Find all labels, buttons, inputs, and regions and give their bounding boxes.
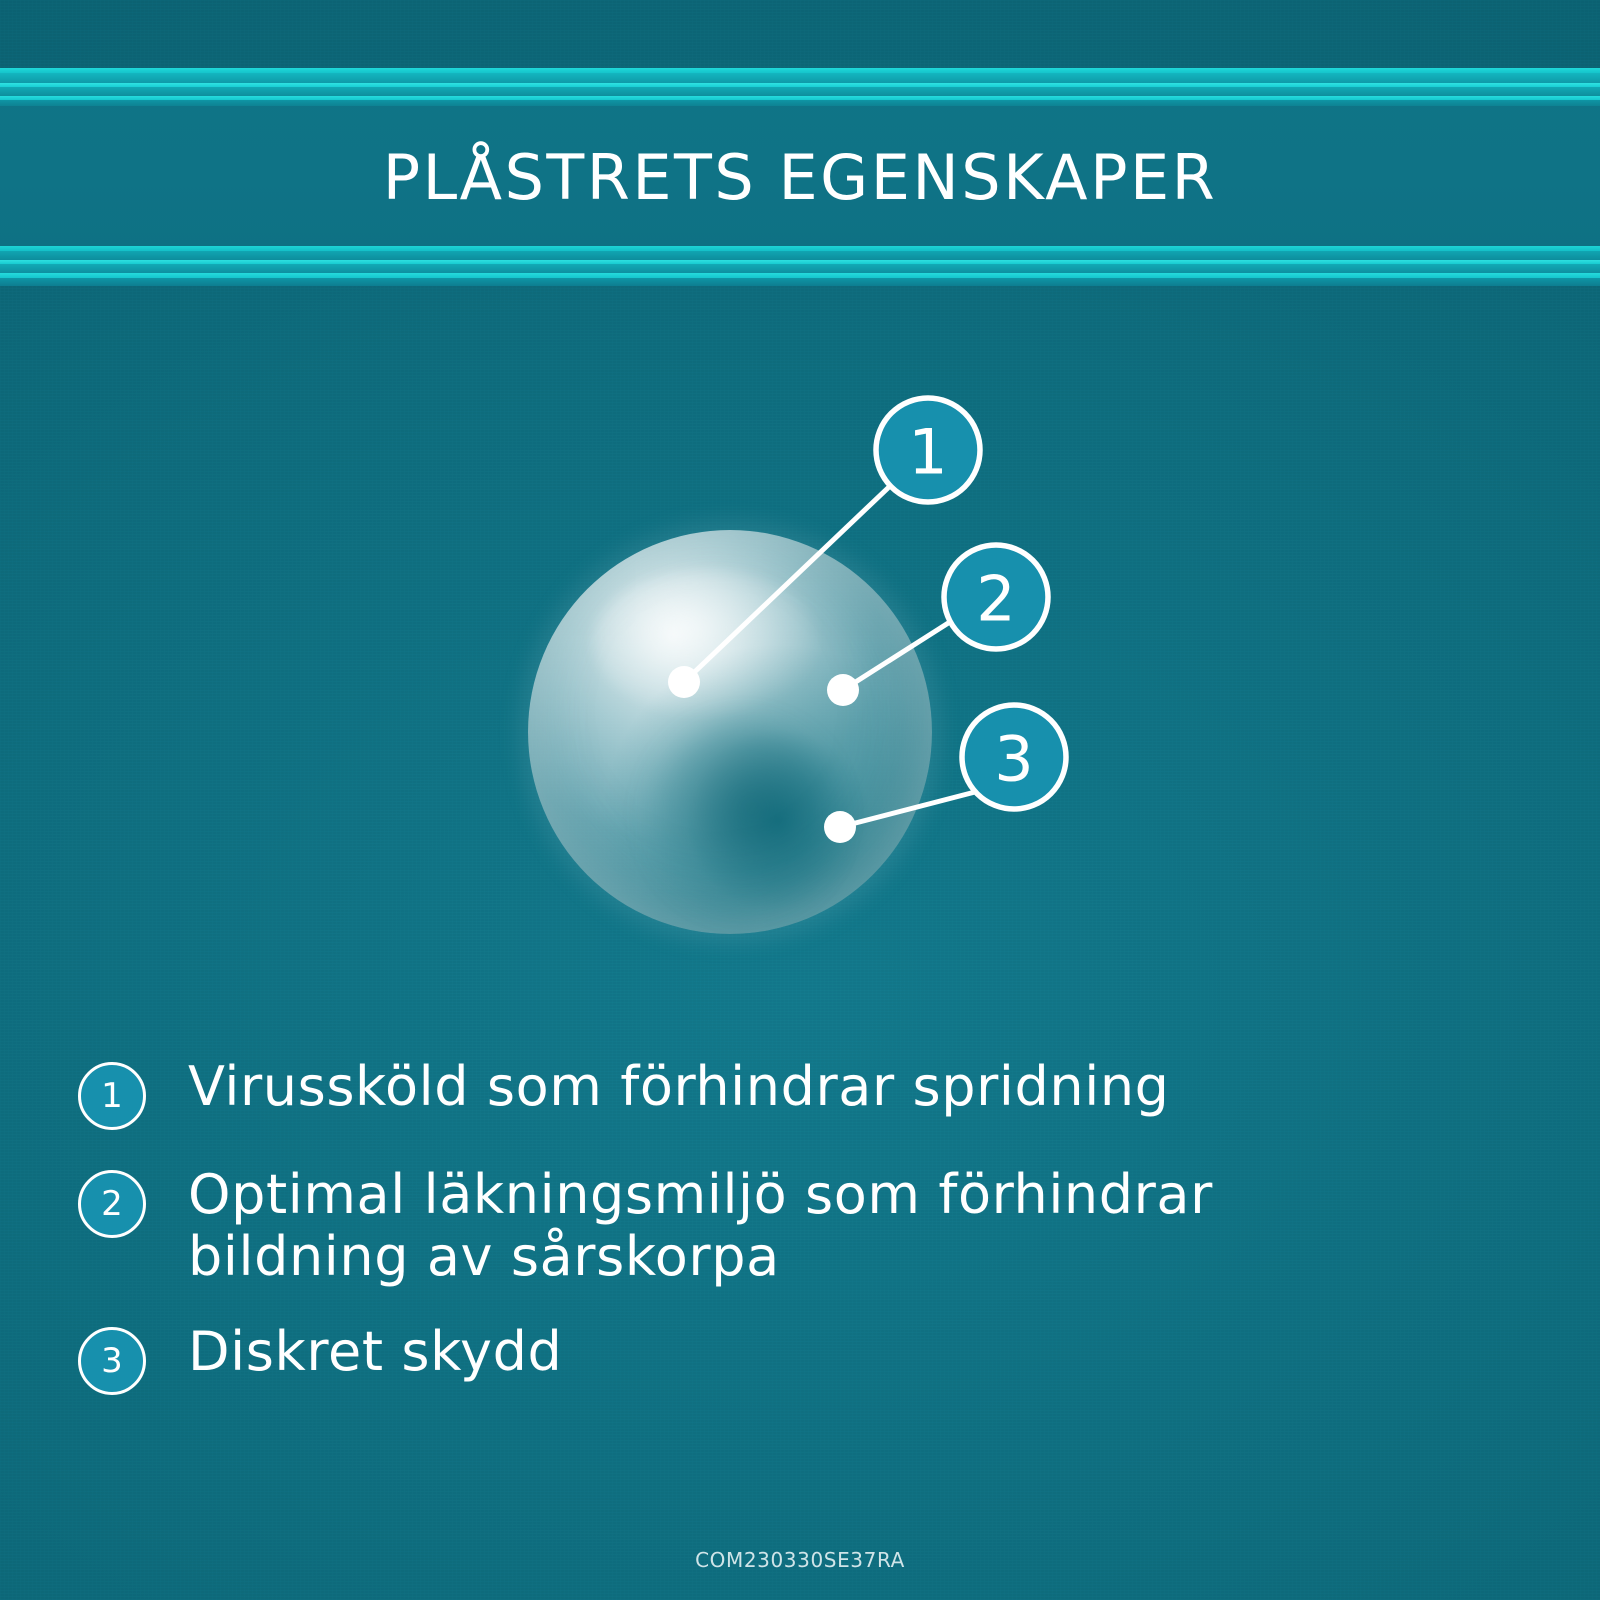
callout-line-2: [843, 620, 953, 690]
list-badge-1: 1: [78, 1062, 146, 1130]
list-item: 1 Virussköld som förhindrar spridning: [78, 1056, 1518, 1130]
callout-dot-3: [824, 811, 856, 843]
list-text-3: Diskret skydd: [188, 1321, 562, 1383]
callout-marker-2[interactable]: 2: [944, 545, 1048, 649]
callout-number-3: 3: [994, 723, 1033, 796]
callout-marker-3[interactable]: 3: [962, 705, 1066, 809]
callout-dot-1: [668, 666, 700, 698]
callout-dot-2: [827, 674, 859, 706]
callout-number-1: 1: [908, 416, 947, 489]
footer-reference-code: COM230330SE37RA: [0, 1548, 1600, 1572]
callout-line-1: [684, 486, 890, 682]
callout-number-2: 2: [976, 563, 1015, 636]
list-item: 2 Optimal läkningsmiljö som förhindrar b…: [78, 1164, 1518, 1287]
callout-marker-1[interactable]: 1: [876, 398, 980, 502]
list-badge-2: 2: [78, 1170, 146, 1238]
list-text-2: Optimal läkningsmiljö som förhindrar bil…: [188, 1164, 1428, 1287]
list-badge-3: 3: [78, 1327, 146, 1395]
feature-list: 1 Virussköld som förhindrar spridning 2 …: [78, 1056, 1518, 1429]
poster-canvas: PLÅSTRETS EGENSKAPER 1 2: [0, 0, 1600, 1600]
list-item: 3 Diskret skydd: [78, 1321, 1518, 1395]
list-text-1: Virussköld som förhindrar spridning: [188, 1056, 1170, 1118]
callout-line-3: [840, 792, 975, 827]
